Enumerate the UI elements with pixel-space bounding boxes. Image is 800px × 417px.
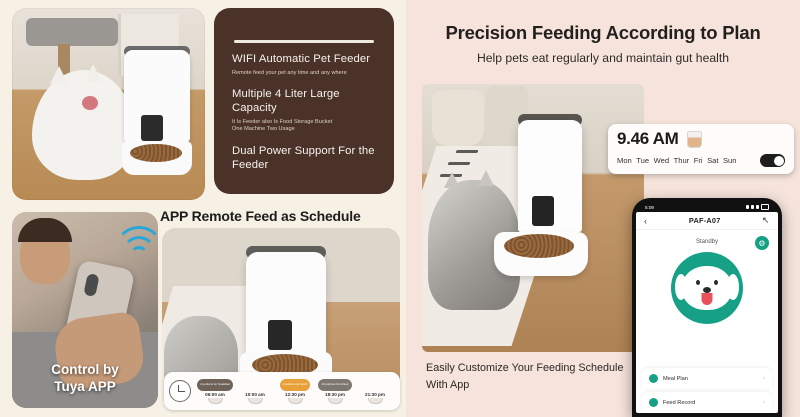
day-sun[interactable]: Sun (723, 156, 737, 165)
feeder-screen-shape (268, 320, 292, 350)
cat-ear-left-shape (444, 172, 460, 188)
feature-list: WIFI Automatic Pet Feeder Remote feed yo… (232, 53, 384, 176)
phone-screen: ‹ PAF-A07 ↗ ⚙ Standby Meal Pla (636, 212, 778, 413)
sofa-shape (26, 18, 118, 46)
dog-eye-right (714, 280, 718, 285)
feature-heading-2: Multiple 4 Liter Large Capacity (232, 88, 384, 116)
mat-slat-shape (456, 150, 479, 153)
clock-icon (169, 380, 191, 402)
schedule-pill (372, 379, 378, 391)
signal-icon (751, 205, 754, 208)
chevron-right-icon: › (763, 376, 765, 382)
feature-sub-2: It Is Feeder also Is Food Storage Bucket… (232, 119, 384, 134)
bowl-icon (288, 398, 303, 404)
feed-record-icon (649, 398, 658, 407)
app-menu-list: Meal Plan › Feed Record › (642, 365, 772, 413)
time-schedule-widget[interactable]: 9.46 AM Mon Tue Wed Thur Fri Sat Sun (608, 124, 794, 174)
meal-plan-icon (649, 374, 658, 383)
day-fri[interactable]: Fri (694, 156, 703, 165)
page-title: Precision Feeding According to Plan (406, 22, 800, 44)
cat-mouth-shape (82, 96, 98, 110)
phone-status-bar: 5:09 (636, 202, 778, 212)
right-panel-header: Precision Feeding According to Plan Help… (406, 22, 800, 65)
feeding-schedule-strip[interactable]: 2 portions for breakfast 06:00 am 10:00 … (164, 372, 400, 410)
battery-icon (761, 204, 769, 209)
feature-sub-1: Remote feed your pet any time and any wh… (232, 70, 384, 78)
photo-man-with-phone: Control by Tuya APP (12, 212, 158, 408)
list-item-meal-plan[interactable]: Meal Plan › (642, 368, 772, 389)
pet-food-shape (504, 234, 574, 258)
phone-camera-shape (83, 273, 99, 297)
schedule-item[interactable]: 4 portions for lunch 12:30 pm (275, 379, 315, 404)
pet-avatar (671, 252, 743, 324)
schedule-item[interactable]: 10 portions for dinner 18:30 pm (315, 379, 355, 404)
page-subtitle: Help pets eat regularly and maintain gut… (406, 51, 800, 65)
dog-ear-left (675, 274, 687, 300)
schedule-item[interactable]: 21:30 pm (355, 379, 395, 404)
time-row: 9.46 AM (617, 129, 785, 149)
bowl-icon (208, 398, 223, 404)
schedule-pill: 4 portions for lunch (280, 379, 311, 391)
schedule-pill (252, 379, 258, 391)
schedule-time: 18:30 pm (325, 392, 345, 397)
mat-slat-shape (448, 162, 471, 165)
product-infographic: WIFI Automatic Pet Feeder Remote feed yo… (0, 0, 800, 417)
schedule-item[interactable]: 2 portions for breakfast 06:00 am (195, 379, 235, 404)
gear-icon[interactable]: ⚙ (755, 236, 769, 250)
back-icon[interactable]: ‹ (644, 216, 647, 226)
schedule-toggle[interactable] (760, 154, 785, 167)
schedule-pill: 10 portions for dinner (318, 379, 351, 391)
day-sat[interactable]: Sat (707, 156, 718, 165)
control-by-tuya-caption: Control by Tuya APP (12, 362, 158, 396)
weekday-row: Mon Tue Wed Thur Fri Sat Sun (617, 154, 785, 167)
cat-ear-left-shape (50, 66, 68, 84)
food-cup-icon (687, 131, 702, 148)
scheduled-time: 9.46 AM (617, 129, 679, 149)
status-time: 5:09 (645, 205, 654, 210)
schedule-time: 21:30 pm (365, 392, 385, 397)
day-tue[interactable]: Tue (636, 156, 649, 165)
pet-food-shape (130, 144, 182, 162)
dog-eye-left (696, 280, 700, 285)
wifi-icon-arc3 (130, 246, 148, 264)
feeder-screen-shape (532, 196, 554, 226)
feature-callout-box: WIFI Automatic Pet Feeder Remote feed yo… (214, 8, 394, 194)
chevron-right-icon: › (763, 400, 765, 406)
photo-cat-with-feeder (12, 8, 205, 200)
feature-heading-3: Dual Power Support For the Feeder (232, 145, 384, 173)
edit-icon[interactable]: ↗ (762, 215, 770, 226)
divider-rule (234, 40, 374, 43)
list-item-label: Meal Plan (663, 376, 758, 382)
list-item-label: Feed Record (663, 400, 758, 406)
app-nav-bar: ‹ PAF-A07 ↗ (636, 212, 778, 230)
dog-face-icon (682, 266, 732, 310)
list-item-feed-record[interactable]: Feed Record › (642, 392, 772, 413)
bowl-icon (328, 398, 343, 404)
wifi-icon (756, 205, 759, 208)
schedule-time: 10:00 am (245, 392, 265, 397)
app-remote-feed-banner: APP Remote Feed as Schedule (160, 208, 400, 224)
feeder-screen-shape (141, 115, 163, 141)
schedule-time: 06:00 am (205, 392, 225, 397)
feeding-schedule-caption: Easily Customize Your Feeding Schedule W… (426, 360, 641, 393)
day-mon[interactable]: Mon (617, 156, 632, 165)
day-thur[interactable]: Thur (674, 156, 690, 165)
toggle-knob (774, 156, 784, 166)
schedule-item[interactable]: 10:00 am (235, 379, 275, 404)
cat-ear-right-shape (84, 64, 102, 82)
device-name-title: PAF-A07 (689, 216, 721, 225)
schedule-pill: 2 portions for breakfast (197, 379, 233, 391)
bowl-icon (248, 398, 263, 404)
day-wed[interactable]: Wed (654, 156, 669, 165)
left-panel: WIFI Automatic Pet Feeder Remote feed yo… (0, 0, 406, 417)
schedule-time: 12:30 pm (285, 392, 305, 397)
dog-tongue (702, 293, 713, 305)
dog-ear-right (727, 274, 739, 300)
status-icons (746, 204, 769, 209)
schedule-items: 2 portions for breakfast 06:00 am 10:00 … (191, 379, 395, 404)
cat-body-shape (32, 70, 136, 180)
cat-ear-right-shape (478, 170, 494, 186)
alarm-icon (746, 205, 749, 208)
feature-heading-1: WIFI Automatic Pet Feeder (232, 53, 384, 67)
planter-shape (432, 90, 484, 146)
phone-mockup: 5:09 ‹ PAF-A07 ↗ ⚙ Standby (632, 198, 782, 417)
man-hair-shape (18, 218, 72, 242)
photo-feeder-precision (422, 84, 644, 352)
bowl-icon (368, 398, 383, 404)
